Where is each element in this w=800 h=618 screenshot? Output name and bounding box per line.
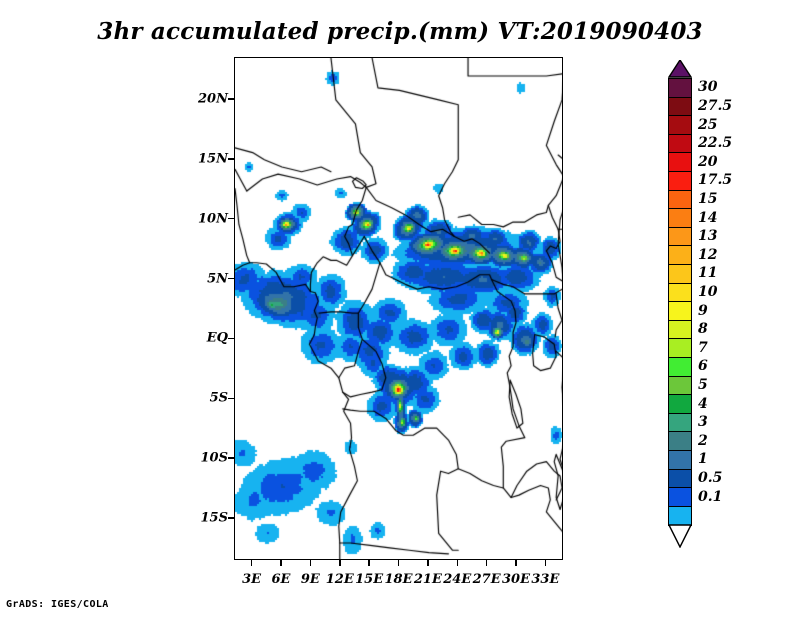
lat-tick-label: 15N — [198, 151, 228, 166]
lat-tick-label: 5N — [207, 271, 228, 286]
colorbar-tick-label: 30 — [698, 79, 717, 95]
lon-tick-label: 33E — [531, 572, 559, 587]
lat-tick-label: 20N — [198, 91, 228, 106]
lat-tick-label: 5S — [210, 391, 228, 406]
colorbar-swatch — [668, 152, 692, 172]
colorbar-tick-label: 5 — [698, 377, 708, 393]
colorbar-tick-label: 2 — [698, 433, 708, 449]
longitude-axis: 3E6E9E12E15E18E21E24E27E30E33E — [234, 566, 563, 588]
lon-tick-mark — [545, 560, 547, 566]
colorbar-swatch — [668, 190, 692, 210]
colorbar-tick-label: 13 — [698, 228, 717, 244]
colorbar-tick-label: 4 — [698, 396, 708, 412]
colorbar-swatch — [668, 134, 692, 154]
colorbar-swatch — [668, 227, 692, 247]
colorbar-tick-label: 9 — [698, 303, 708, 319]
colorbar-legend: 3027.52522.52017.51514131211109876543210… — [666, 60, 786, 560]
colorbar-tick-label: 25 — [698, 117, 717, 133]
lon-tick-label: 27E — [473, 572, 501, 587]
colorbar-swatch — [668, 115, 692, 135]
colorbar-swatch — [668, 283, 692, 303]
lon-tick-label: 9E — [301, 572, 320, 587]
colorbar-tick-label: 10 — [698, 284, 717, 300]
colorbar-swatch — [668, 338, 692, 358]
colorbar-tick-label: 1 — [698, 451, 708, 467]
colorbar-swatch — [668, 394, 692, 414]
colorbar-top-arrow — [668, 60, 692, 78]
lon-tick-label: 18E — [385, 572, 413, 587]
lon-tick-label: 24E — [443, 572, 471, 587]
latitude-axis: 20N15N10N5NEQ5S10S15S — [186, 57, 228, 560]
lon-tick-label: 3E — [242, 572, 261, 587]
colorbar-swatch — [668, 78, 692, 98]
colorbar-swatch — [668, 97, 692, 117]
page-title: 3hr accumulated precip.(mm) VT:201909040… — [0, 18, 800, 45]
lon-tick-mark — [398, 560, 400, 566]
footer-credit: GrADS: IGES/COLA — [6, 599, 109, 610]
lon-tick-label: 30E — [502, 572, 530, 587]
lon-tick-mark — [457, 560, 459, 566]
map-canvas — [235, 58, 563, 560]
colorbar-bottom-arrow — [668, 524, 692, 548]
colorbar-swatch — [668, 171, 692, 191]
colorbar-swatch — [668, 376, 692, 396]
lat-tick-label: 10S — [201, 451, 228, 466]
colorbar-swatch — [668, 506, 692, 526]
lon-tick-mark — [368, 560, 370, 566]
lat-tick-label: EQ — [207, 331, 228, 346]
colorbar-tick-label: 0.1 — [698, 489, 722, 505]
colorbar-tick-label: 12 — [698, 247, 717, 263]
colorbar-swatch — [668, 320, 692, 340]
colorbar-tick-label: 20 — [698, 154, 717, 170]
colorbar-tick-label: 11 — [698, 265, 717, 281]
lon-tick-mark — [427, 560, 429, 566]
lon-tick-label: 6E — [272, 572, 291, 587]
colorbar-swatch — [668, 301, 692, 321]
lon-tick-mark — [339, 560, 341, 566]
colorbar-tick-label: 6 — [698, 358, 708, 374]
colorbar-swatch — [668, 208, 692, 228]
lon-tick-mark — [310, 560, 312, 566]
lon-tick-label: 15E — [355, 572, 383, 587]
colorbar-swatch — [668, 245, 692, 265]
colorbar-tick-label: 7 — [698, 340, 708, 356]
precipitation-map[interactable] — [234, 57, 563, 560]
colorbar-tick-label: 0.5 — [698, 470, 722, 486]
colorbar-swatch — [668, 431, 692, 451]
lat-tick-label: 10N — [198, 211, 228, 226]
colorbar-swatch — [668, 413, 692, 433]
colorbar-tick-label: 14 — [698, 210, 717, 226]
lon-tick-mark — [251, 560, 253, 566]
colorbar-swatch — [668, 469, 692, 489]
lon-tick-label: 21E — [414, 572, 442, 587]
lon-tick-label: 12E — [326, 572, 354, 587]
colorbar-tick-label: 3 — [698, 414, 708, 430]
colorbar-tick-label: 17.5 — [698, 172, 732, 188]
lat-tick-label: 15S — [201, 511, 228, 526]
colorbar-swatch — [668, 357, 692, 377]
colorbar-tick-label: 27.5 — [698, 98, 732, 114]
lon-tick-mark — [486, 560, 488, 566]
colorbar-swatch — [668, 487, 692, 507]
colorbar-swatch — [668, 450, 692, 470]
colorbar-tick-label: 15 — [698, 191, 717, 207]
colorbar-tick-label: 22.5 — [698, 135, 732, 151]
lon-tick-mark — [515, 560, 517, 566]
colorbar-tick-label: 8 — [698, 321, 708, 337]
colorbar-swatch — [668, 264, 692, 284]
lon-tick-mark — [280, 560, 282, 566]
